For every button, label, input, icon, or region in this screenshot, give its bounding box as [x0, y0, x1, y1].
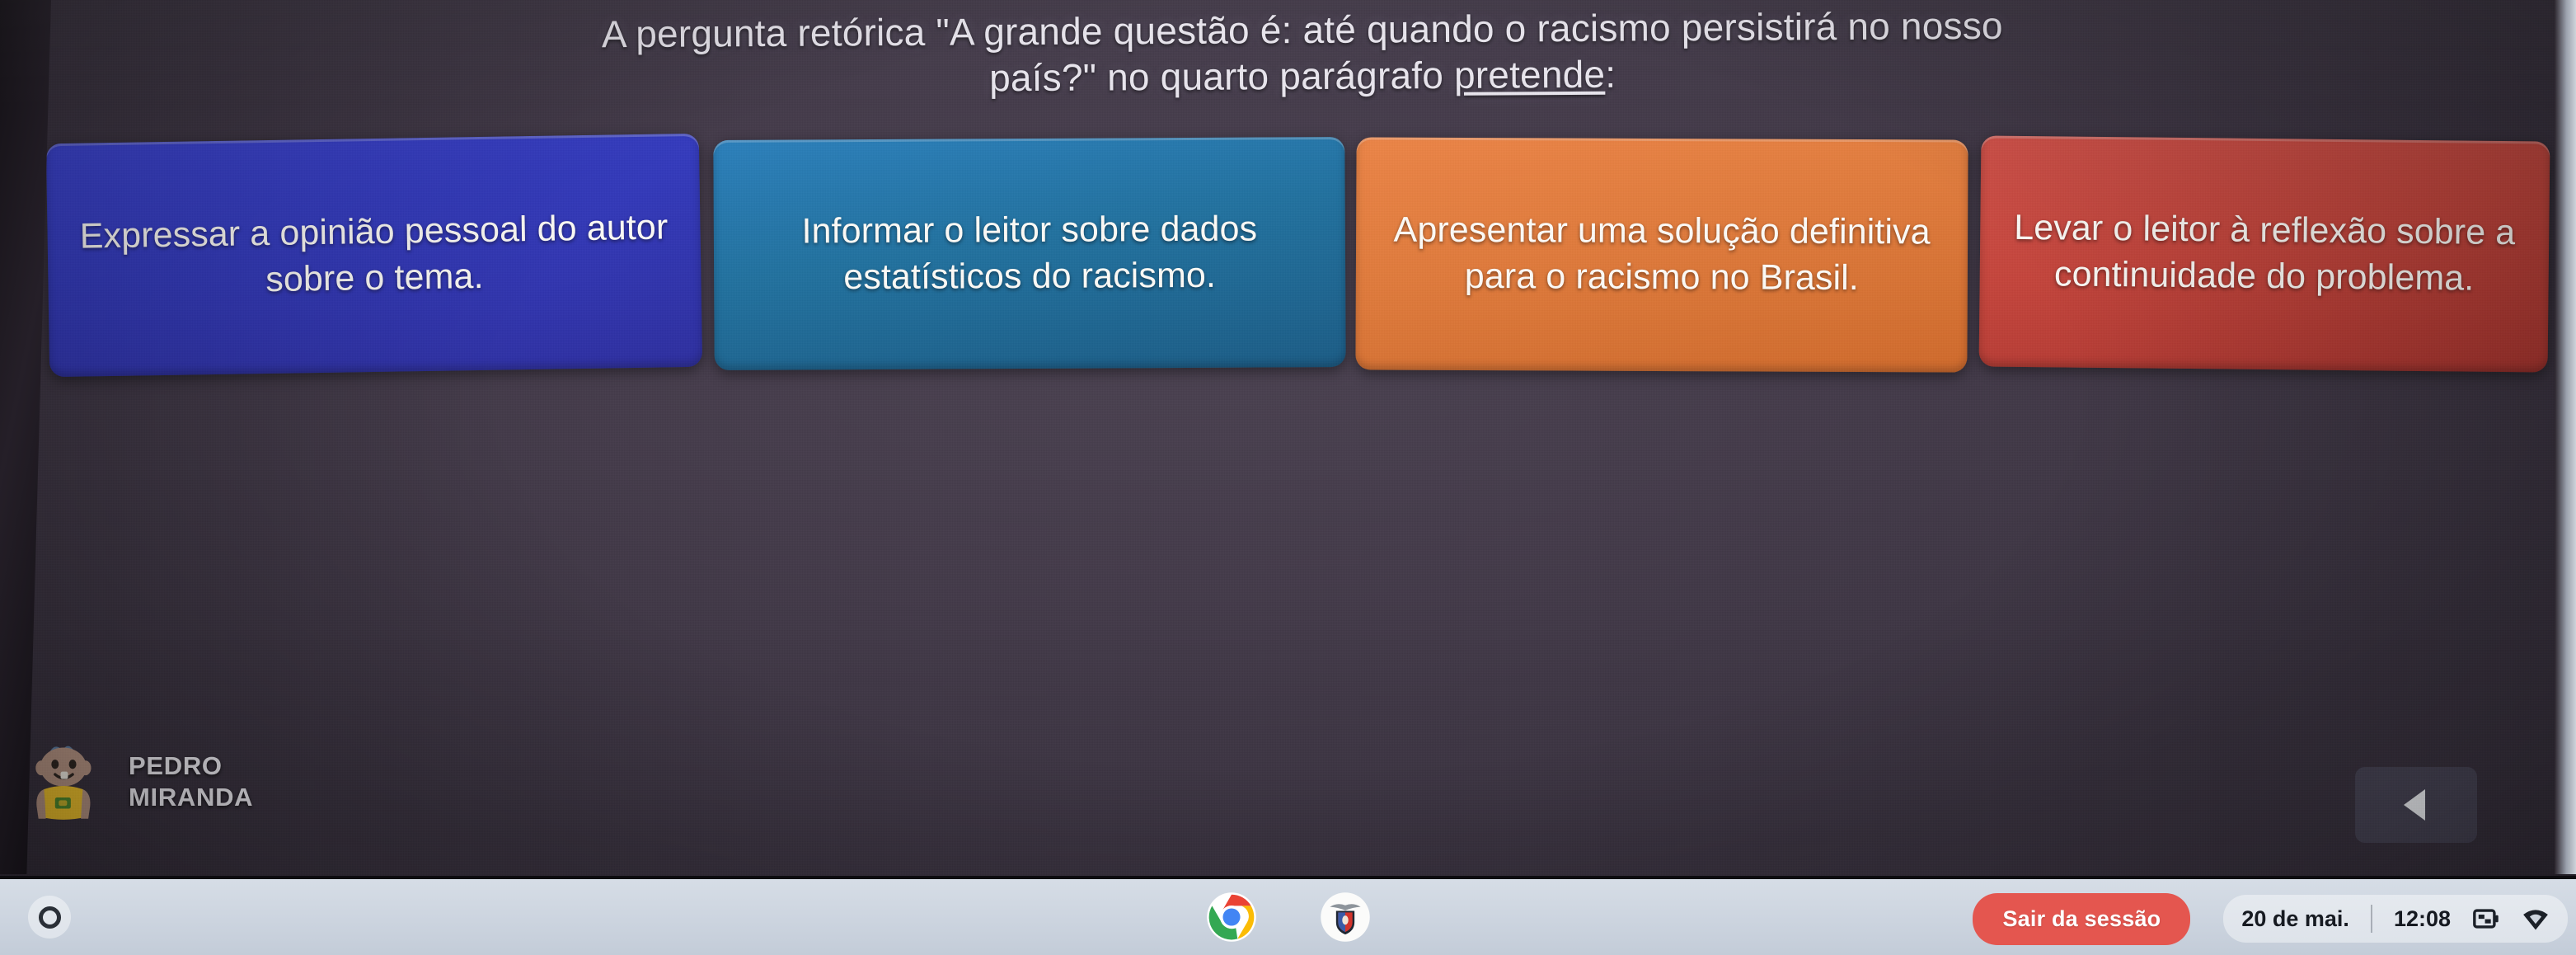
player-first-name: PEDRO	[129, 750, 253, 782]
tray-divider	[2371, 905, 2372, 933]
device-bezel-right	[2555, 0, 2576, 874]
answer-label-3: Apresentar uma solução definitiva para o…	[1369, 208, 1954, 303]
screenshot-scene: A pergunta retórica "A grande questão é:…	[0, 0, 2576, 955]
wifi-icon	[2522, 905, 2550, 933]
chrome-app-icon[interactable]	[1206, 891, 1257, 943]
launcher-circle-icon	[39, 906, 61, 929]
battery-icon	[2472, 905, 2500, 933]
launcher-button[interactable]	[28, 896, 71, 939]
back-triangle-icon	[2398, 786, 2434, 824]
logout-button[interactable]: Sair da sessão	[1973, 893, 2190, 945]
school-app-icon[interactable]	[1320, 891, 1371, 943]
player-badge: PEDRO MIRANDA	[18, 736, 253, 828]
answer-card-4[interactable]: Levar o leitor à reflexão sobre a contin…	[1979, 135, 2550, 372]
answer-card-3[interactable]: Apresentar uma solução definitiva para o…	[1355, 137, 1968, 372]
tray-time: 12:08	[2394, 906, 2451, 932]
shelf-app-list	[1206, 891, 1371, 943]
question-line-1: A pergunta retórica "A grande questão é:…	[602, 4, 2003, 55]
system-tray: Sair da sessão 20 de mai. 12:08	[1973, 879, 2568, 955]
answer-label-1: Expressar a opinião pessoal do autor sob…	[60, 205, 688, 307]
answer-label-2: Informar o leitor sobre dados estatístic…	[727, 206, 1333, 302]
quiz-screen: A pergunta retórica "A grande questão é:…	[0, 0, 2576, 876]
chromeos-shelf: Sair da sessão 20 de mai. 12:08	[0, 876, 2576, 955]
question-text: A pergunta retórica "A grande questão é:…	[115, 0, 2490, 106]
question-line-2-post: :	[1605, 53, 1616, 96]
back-button[interactable]	[2355, 767, 2477, 843]
answer-options: Expressar a opinião pessoal do autor sob…	[0, 139, 2576, 376]
tray-status-area[interactable]: 20 de mai. 12:08	[2223, 895, 2568, 943]
answer-card-1[interactable]: Expressar a opinião pessoal do autor sob…	[46, 134, 702, 377]
answer-card-2[interactable]: Informar o leitor sobre dados estatístic…	[713, 137, 1345, 370]
player-name: PEDRO MIRANDA	[129, 750, 253, 813]
tray-date: 20 de mai.	[2241, 906, 2349, 932]
answer-label-4: Levar o leitor à reflexão sobre a contin…	[1992, 205, 2536, 303]
cartoon-avatar-icon	[18, 736, 110, 828]
question-emphasis: pretende	[1454, 53, 1606, 96]
photo-grain-overlay	[0, 0, 2576, 876]
photo-vignette-overlay	[0, 0, 2576, 876]
player-last-name: MIRANDA	[129, 782, 253, 813]
question-line-2-pre: país?" no quarto parágrafo	[989, 54, 1454, 99]
